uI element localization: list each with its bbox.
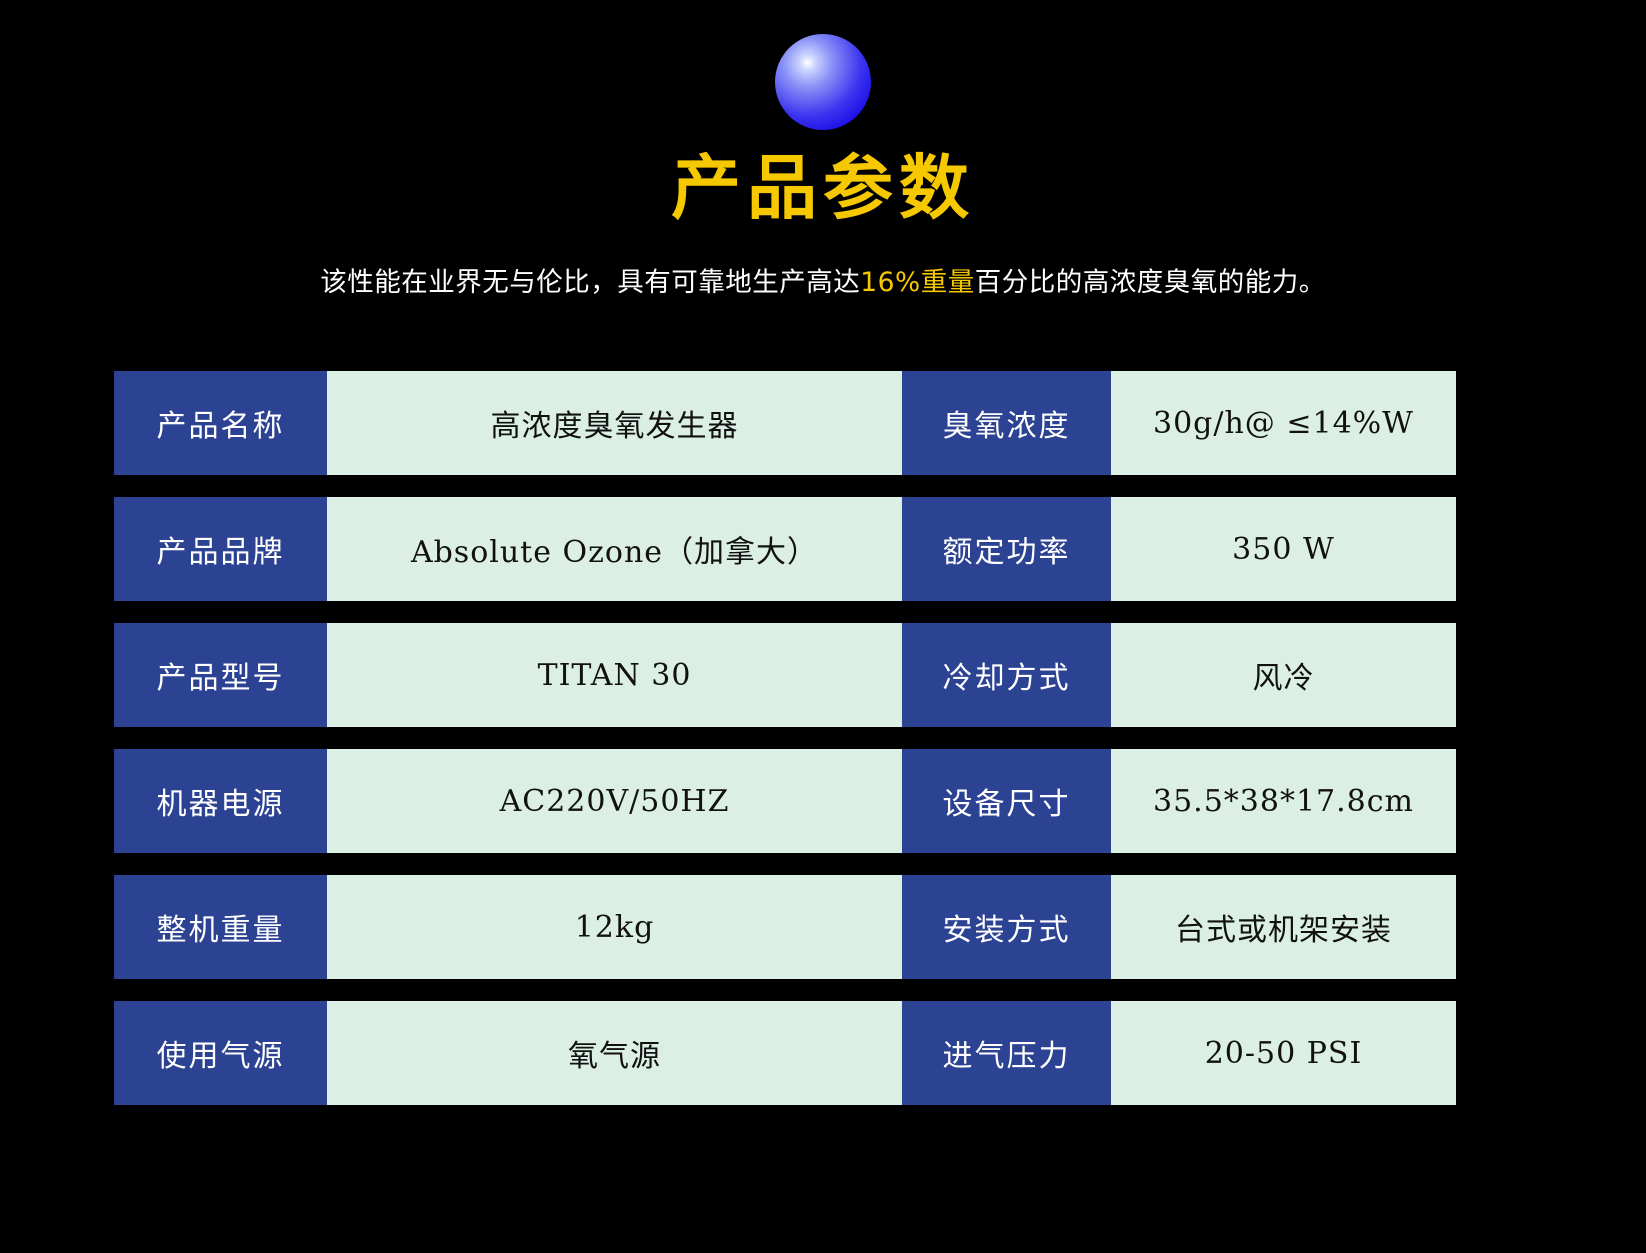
row-value-right: 台式或机架安装 <box>1111 875 1456 979</box>
page-title: 产品参数 <box>0 152 1646 226</box>
subtitle-text-after: 百分比的高浓度臭氧的能力。 <box>975 267 1326 298</box>
row-value-left: TITAN 30 <box>327 623 902 727</box>
row-value-right: 350 W <box>1111 497 1456 601</box>
row-value-right: 30g/h@ ≤14%W <box>1111 371 1456 475</box>
table-row: 产品品牌Absolute Ozone（加拿大）额定功率350 W <box>114 497 1456 601</box>
row-label-right: 冷却方式 <box>902 623 1111 727</box>
table-row: 产品名称高浓度臭氧发生器臭氧浓度30g/h@ ≤14%W <box>114 371 1456 475</box>
subtitle-highlight: 16%重量 <box>860 267 974 298</box>
table-row: 机器电源AC220V/50HZ设备尺寸35.5*38*17.8cm <box>114 749 1456 853</box>
row-label-right: 安装方式 <box>902 875 1111 979</box>
row-label-left: 整机重量 <box>114 875 327 979</box>
row-value-left: 高浓度臭氧发生器 <box>327 371 902 475</box>
row-value-right: 35.5*38*17.8cm <box>1111 749 1456 853</box>
row-label-right: 额定功率 <box>902 497 1111 601</box>
row-value-left: 氧气源 <box>327 1001 902 1105</box>
page-subtitle: 该性能在业界无与伦比，具有可靠地生产高达16%重量百分比的高浓度臭氧的能力。 <box>0 260 1646 299</box>
row-value-right: 20-50 PSI <box>1111 1001 1456 1105</box>
row-label-left: 产品型号 <box>114 623 327 727</box>
row-label-right: 臭氧浓度 <box>902 371 1111 475</box>
row-value-left: AC220V/50HZ <box>327 749 902 853</box>
spec-table: 产品名称高浓度臭氧发生器臭氧浓度30g/h@ ≤14%W产品品牌Absolute… <box>114 371 1456 1127</box>
product-spec-page: 产品参数 该性能在业界无与伦比，具有可靠地生产高达16%重量百分比的高浓度臭氧的… <box>0 0 1646 1253</box>
row-label-left: 产品名称 <box>114 371 327 475</box>
blue-sphere-icon <box>775 34 871 130</box>
row-value-left: Absolute Ozone（加拿大） <box>327 497 902 601</box>
page-header: 产品参数 该性能在业界无与伦比，具有可靠地生产高达16%重量百分比的高浓度臭氧的… <box>0 0 1646 299</box>
row-label-right: 设备尺寸 <box>902 749 1111 853</box>
row-label-left: 机器电源 <box>114 749 327 853</box>
table-row: 使用气源氧气源进气压力20-50 PSI <box>114 1001 1456 1105</box>
row-label-left: 使用气源 <box>114 1001 327 1105</box>
subtitle-text-before: 该性能在业界无与伦比，具有可靠地生产高达 <box>320 267 860 298</box>
row-value-left: 12kg <box>327 875 902 979</box>
table-row: 整机重量12kg安装方式台式或机架安装 <box>114 875 1456 979</box>
row-value-right: 风冷 <box>1111 623 1456 727</box>
row-label-right: 进气压力 <box>902 1001 1111 1105</box>
table-row: 产品型号TITAN 30冷却方式风冷 <box>114 623 1456 727</box>
row-label-left: 产品品牌 <box>114 497 327 601</box>
